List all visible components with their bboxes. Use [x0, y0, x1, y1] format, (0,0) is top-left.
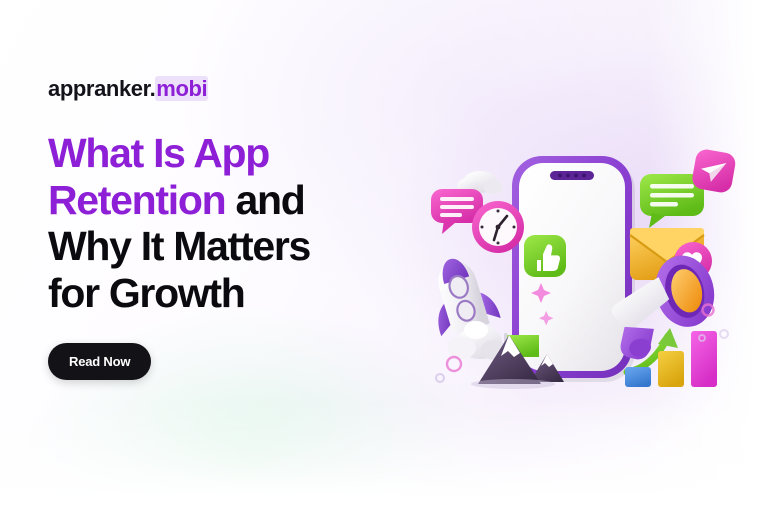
headline-line-4: for Growth — [48, 270, 245, 316]
brand-logo[interactable]: appranker.mobi — [48, 78, 448, 100]
hero-illustration — [418, 130, 758, 420]
send-icon — [691, 148, 737, 194]
page-title: What Is AppRetention andWhy It Mattersfo… — [48, 130, 448, 317]
brand-name-main: appranker — [48, 76, 150, 101]
headline-line-2-plain: and — [225, 177, 304, 223]
hero-banner: appranker.mobi What Is AppRetention andW… — [0, 0, 768, 511]
headline-line-1: What Is App — [48, 130, 269, 176]
thumbs-up-icon — [524, 235, 566, 277]
read-now-button[interactable]: Read Now — [48, 343, 151, 380]
headline-line-2-accent: Retention — [48, 177, 225, 223]
clock-icon — [472, 201, 524, 253]
content-column: appranker.mobi What Is AppRetention andW… — [48, 78, 448, 380]
illustration-svg — [418, 130, 758, 420]
brand-name-tld: mobi — [155, 76, 208, 101]
headline-line-3: Why It Matters — [48, 223, 310, 269]
